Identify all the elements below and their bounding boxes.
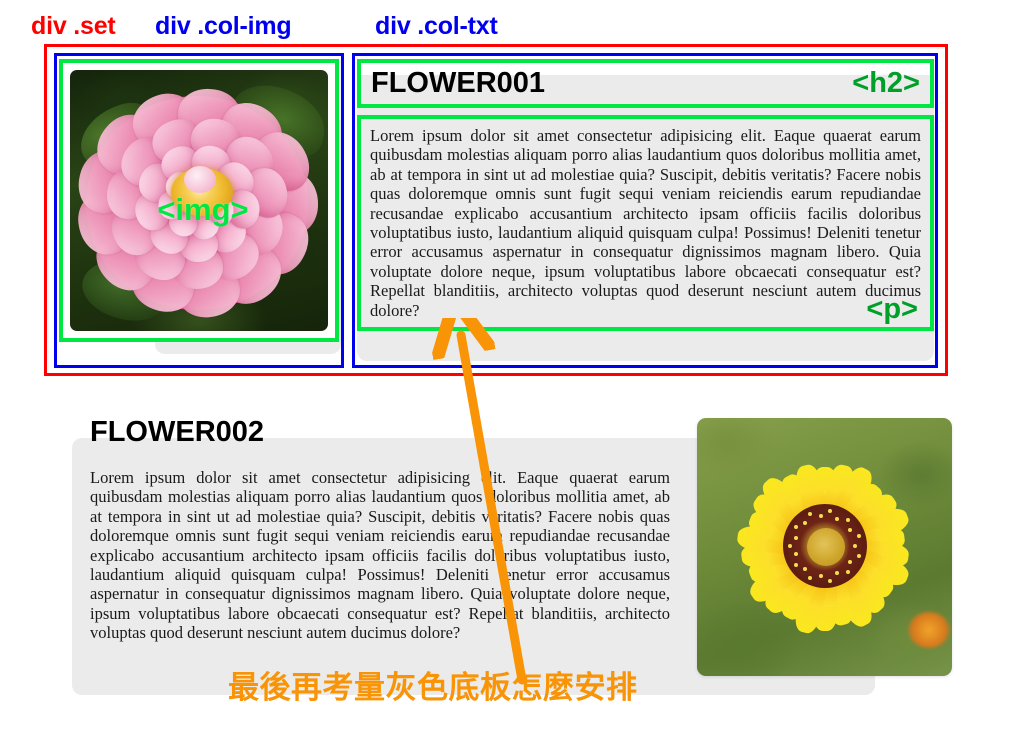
h2-tag-label: <h2> [852, 69, 920, 98]
annotation-label-set: div .set [31, 14, 116, 39]
gaillardia-stamen [819, 574, 823, 578]
gaillardia-stamen [794, 563, 798, 567]
img-element-outline: <img> [59, 59, 339, 342]
flower1-heading: FLOWER001 [371, 69, 545, 98]
gaillardia-stamen [853, 544, 857, 548]
flower2-image [697, 418, 952, 676]
gaillardia-stamen [788, 544, 792, 548]
gaillardia-disc-center [807, 528, 845, 566]
gaillardia-stamen [846, 518, 850, 522]
gaillardia-stamen [794, 525, 798, 529]
flower2-heading: FLOWER002 [90, 418, 264, 447]
gaillardia-stamen [857, 534, 861, 538]
img-tag-label: <img> [63, 194, 343, 225]
gaillardia-stamen [794, 536, 798, 540]
annotation-caption-chinese: 最後再考量灰色底板怎麼安排 [228, 673, 638, 704]
gaillardia-stamen [857, 554, 861, 558]
gaillardia-background-bloom [908, 612, 950, 648]
peony-inner-bud [184, 166, 216, 193]
h2-element-outline: FLOWER001 <h2> [357, 59, 934, 108]
flower1-paragraph: Lorem ipsum dolor sit amet consectetur a… [370, 126, 921, 320]
gaillardia-stamen [828, 579, 832, 583]
annotation-label-col-txt: div .col-txt [375, 14, 498, 39]
annotation-label-col-img: div .col-img [155, 14, 292, 39]
p-tag-label: <p> [866, 295, 918, 324]
flower2-paragraph: Lorem ipsum dolor sit amet consectetur a… [90, 468, 670, 643]
gaillardia-stamen [848, 528, 852, 532]
p-element-outline: Lorem ipsum dolor sit amet consectetur a… [357, 115, 934, 331]
